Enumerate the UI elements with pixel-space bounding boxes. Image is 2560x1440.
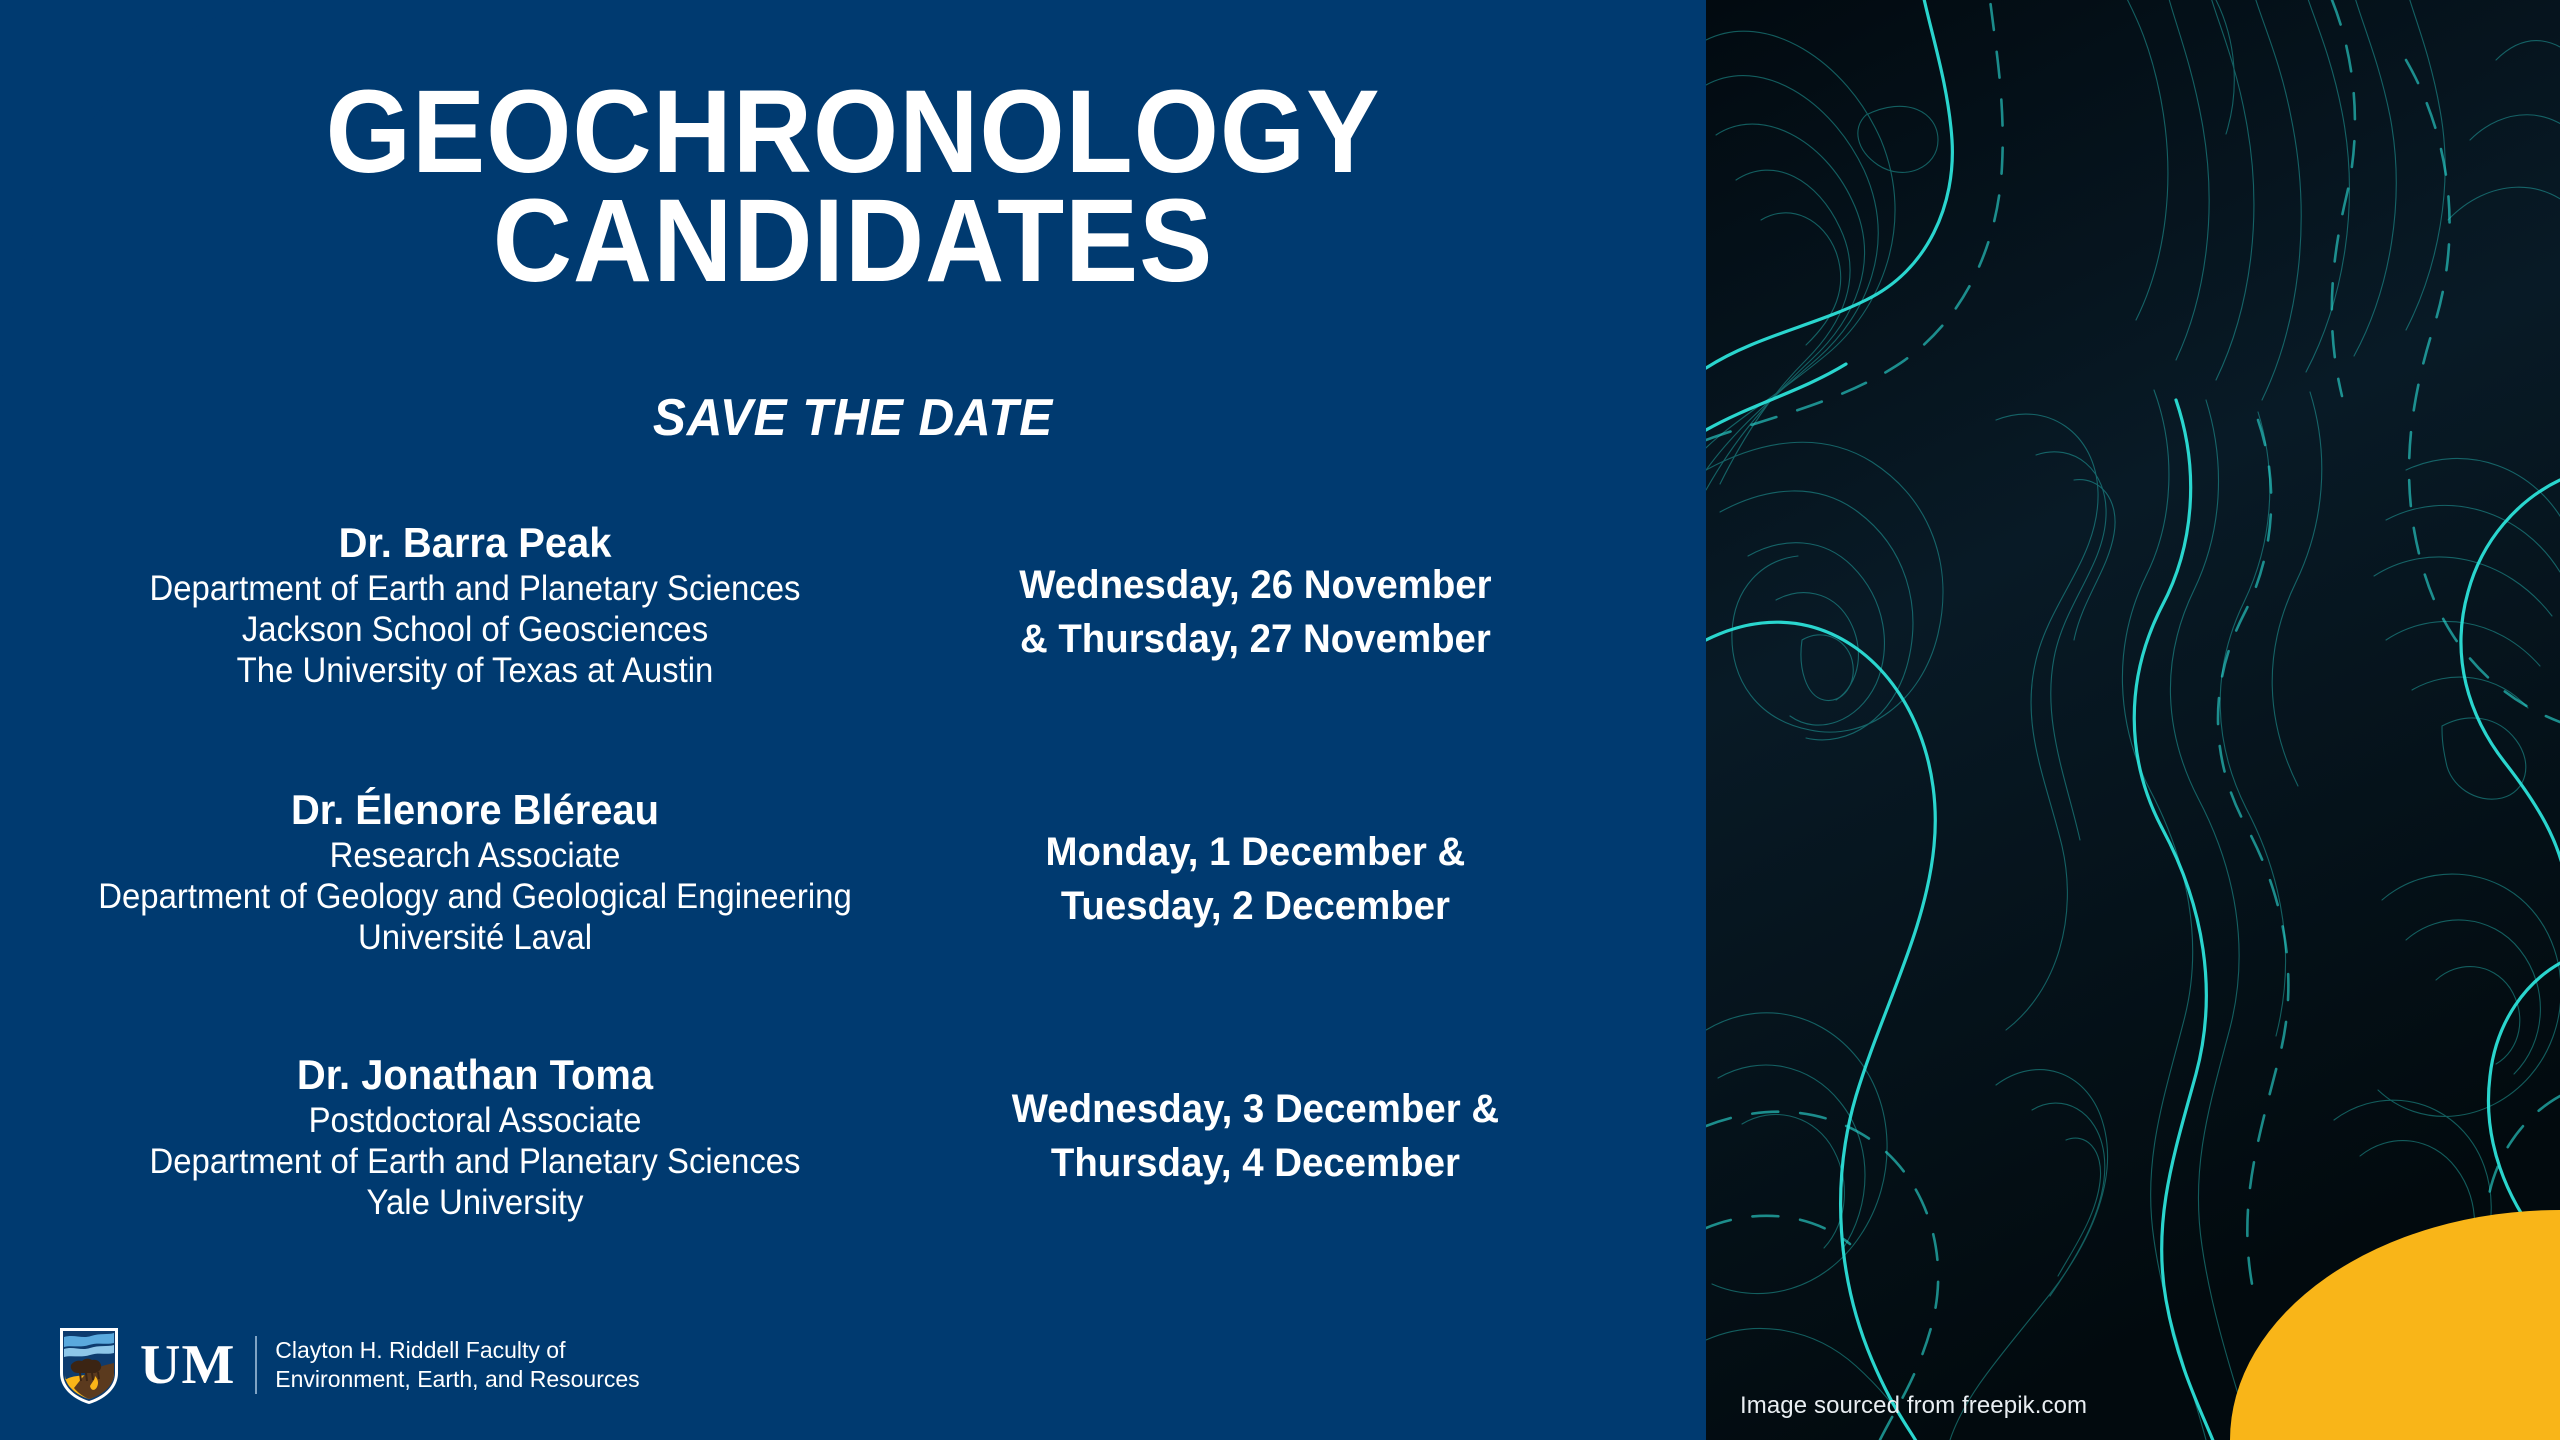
candidate-affiliation-line: Université Laval <box>57 917 894 958</box>
candidate-date-line: Wednesday, 3 December & <box>936 1082 1575 1136</box>
main-content: GEOCHRONOLOGY CANDIDATES SAVE THE DATE D… <box>0 0 1706 1440</box>
candidate-date-line: Monday, 1 December & <box>936 825 1575 879</box>
candidate-affiliation-line: The University of Texas at Austin <box>57 650 894 691</box>
logo-divider <box>255 1336 257 1394</box>
candidate-info: Dr. Élenore Bléreau Research Associate D… <box>0 765 920 958</box>
candidate-name: Dr. Jonathan Toma <box>52 1050 898 1100</box>
candidate-date-line: Thursday, 4 December <box>936 1136 1575 1190</box>
image-credit-text: Image sourced from freepik.com <box>1740 1392 2087 1420</box>
candidate-row: Dr. Barra Peak Department of Earth and P… <box>0 500 1706 765</box>
topographic-background-image <box>1706 0 2560 1440</box>
candidate-name: Dr. Barra Peak <box>52 518 898 568</box>
candidate-affiliation-line: Yale University <box>57 1182 894 1223</box>
um-bison-shield-icon <box>58 1325 120 1405</box>
candidate-affiliation-line: Department of Earth and Planetary Scienc… <box>57 1141 894 1182</box>
candidate-row: Dr. Jonathan Toma Postdoctoral Associate… <box>0 1030 1706 1295</box>
candidate-dates: Wednesday, 26 November & Thursday, 27 No… <box>936 500 1691 666</box>
candidate-dates: Wednesday, 3 December & Thursday, 4 Dece… <box>936 1030 1691 1190</box>
page-title-line-2: CANDIDATES <box>60 187 1647 296</box>
page-title: GEOCHRONOLOGY CANDIDATES <box>60 78 1647 295</box>
candidate-name: Dr. Élenore Bléreau <box>52 785 898 835</box>
candidate-affiliation-line: Department of Earth and Planetary Scienc… <box>57 568 894 609</box>
candidate-info: Dr. Barra Peak Department of Earth and P… <box>0 500 920 691</box>
um-logo-lockup: UM Clayton H. Riddell Faculty of Environ… <box>58 1325 640 1405</box>
candidate-affiliation-line: Postdoctoral Associate <box>57 1100 894 1141</box>
um-wordmark: UM <box>140 1337 235 1393</box>
candidates-list: Dr. Barra Peak Department of Earth and P… <box>0 500 1706 1295</box>
candidate-dates: Monday, 1 December & Tuesday, 2 December <box>936 765 1691 933</box>
candidate-affiliation-line: Jackson School of Geosciences <box>57 609 894 650</box>
candidate-affiliation-line: Research Associate <box>57 835 894 876</box>
candidate-affiliation-line: Department of Geology and Geological Eng… <box>57 876 894 917</box>
contour-map-graphic <box>1706 0 2560 1440</box>
page-title-line-1: GEOCHRONOLOGY <box>60 78 1647 187</box>
poster-canvas: Image sourced from freepik.com GEOCHRONO… <box>0 0 2560 1440</box>
faculty-name: Clayton H. Riddell Faculty of Environmen… <box>275 1336 639 1394</box>
candidate-date-line: & Thursday, 27 November <box>936 612 1575 666</box>
candidate-date-line: Wednesday, 26 November <box>936 558 1575 612</box>
candidate-info: Dr. Jonathan Toma Postdoctoral Associate… <box>0 1030 920 1223</box>
faculty-name-line-2: Environment, Earth, and Resources <box>275 1365 639 1394</box>
subtitle-save-the-date: SAVE THE DATE <box>43 388 1664 448</box>
faculty-name-line-1: Clayton H. Riddell Faculty of <box>275 1336 639 1365</box>
candidate-row: Dr. Élenore Bléreau Research Associate D… <box>0 765 1706 1030</box>
candidate-date-line: Tuesday, 2 December <box>936 879 1575 933</box>
